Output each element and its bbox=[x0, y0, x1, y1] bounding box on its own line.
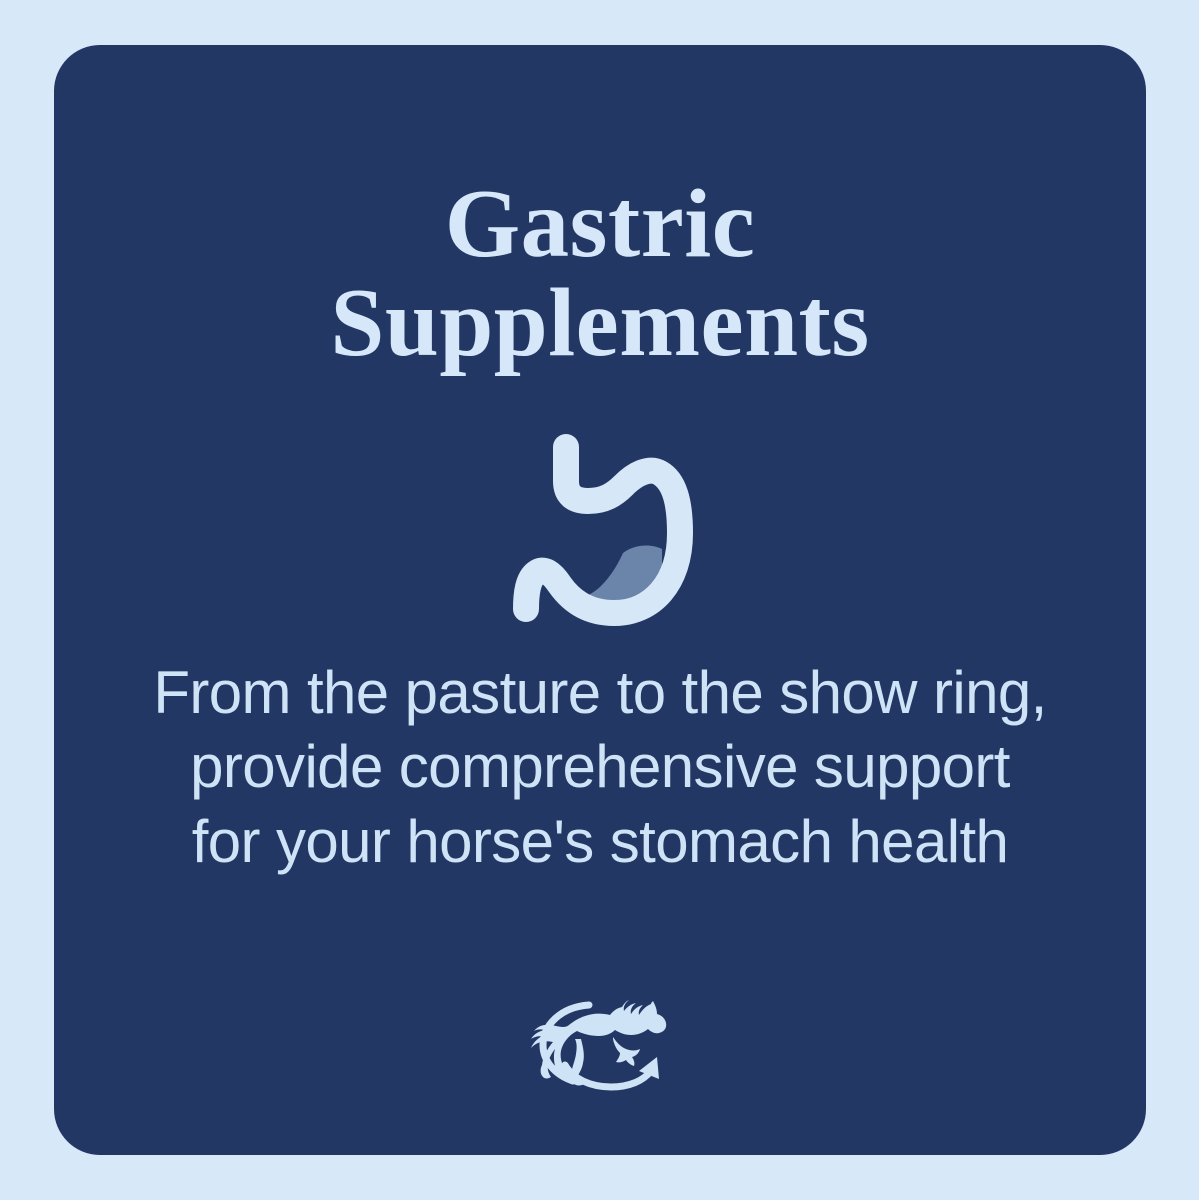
page-title: Gastric Supplements bbox=[54, 175, 1146, 373]
page-title-line-1: Gastric bbox=[54, 175, 1146, 274]
promo-card: Gastric Supplements From the pasture to … bbox=[54, 45, 1146, 1155]
description-line-1: From the pasture to the show ring, bbox=[54, 656, 1146, 730]
page-title-line-2: Supplements bbox=[54, 274, 1146, 373]
stomach-icon-container bbox=[54, 433, 1146, 629]
description-line-3: for your horse's stomach health bbox=[54, 805, 1146, 879]
page-canvas: Gastric Supplements From the pasture to … bbox=[0, 0, 1199, 1200]
description-text: From the pasture to the show ring, provi… bbox=[54, 656, 1146, 879]
galloping-horse-logo bbox=[525, 995, 675, 1091]
description-line-2: provide comprehensive support bbox=[54, 730, 1146, 804]
stomach-icon bbox=[500, 433, 700, 629]
brand-logo-container bbox=[54, 995, 1146, 1091]
